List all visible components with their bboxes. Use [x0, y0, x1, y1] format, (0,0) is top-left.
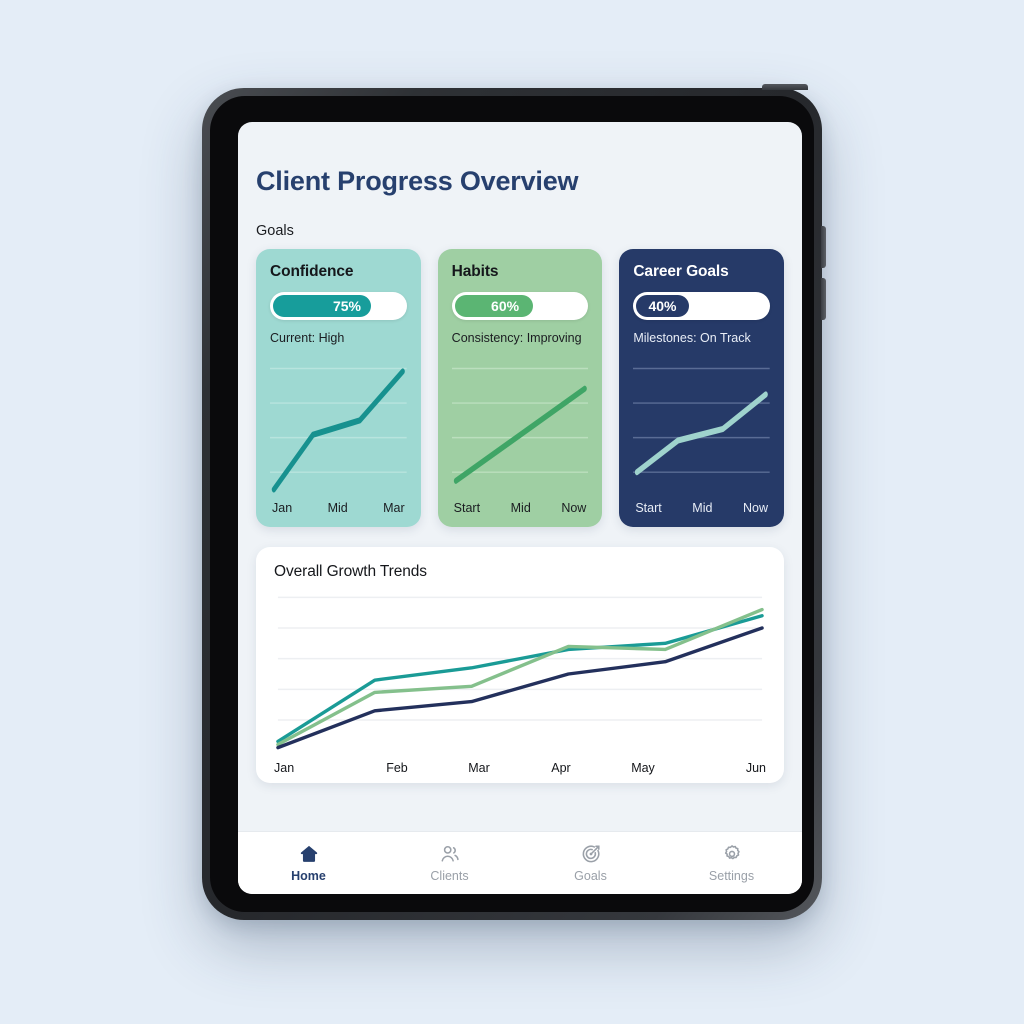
axis-tick: Apr — [520, 761, 602, 775]
goal-card-career[interactable]: Career Goals 40% Milestones: On Track — [619, 249, 784, 527]
growth-trends-chart — [274, 593, 766, 755]
goal-card-habits[interactable]: Habits 60% Consistency: Improving — [438, 249, 603, 527]
axis-tick: Mar — [383, 501, 405, 515]
progress-bar-habits: 60% — [452, 292, 589, 320]
tab-label: Goals — [574, 869, 607, 883]
goal-cards-row: Confidence 75% Current: High — [256, 249, 784, 527]
axis-tick: May — [602, 761, 684, 775]
tab-home[interactable]: Home — [238, 843, 379, 883]
device-bezel: Client Progress Overview Goals Confidenc… — [210, 96, 814, 912]
axis-tick: Jan — [274, 761, 356, 775]
tablet-device: Client Progress Overview Goals Confidenc… — [202, 88, 822, 920]
progress-bar-confidence: 75% — [270, 292, 407, 320]
tab-settings[interactable]: Settings — [661, 843, 802, 883]
goal-card-title: Confidence — [270, 263, 407, 281]
axis-tick: Now — [743, 501, 768, 515]
sparkline-axis-confidence: Jan Mid Mar — [270, 501, 407, 527]
axis-tick: Jun — [684, 761, 766, 775]
axis-tick: Mar — [438, 761, 520, 775]
goal-card-title: Career Goals — [633, 263, 770, 281]
goal-card-title: Habits — [452, 263, 589, 281]
axis-tick: Start — [635, 501, 661, 515]
tablet-screen: Client Progress Overview Goals Confidenc… — [238, 122, 802, 894]
growth-trends-card: Overall Growth Trends Jan Feb Mar Apr Ma… — [256, 547, 784, 783]
goal-card-subtitle: Current: High — [270, 331, 407, 345]
volume-down-button[interactable] — [821, 278, 826, 320]
goal-card-subtitle: Milestones: On Track — [633, 331, 770, 345]
sparkline-career — [633, 357, 770, 501]
target-icon — [580, 843, 602, 865]
axis-tick: Mid — [328, 501, 348, 515]
axis-tick: Start — [454, 501, 480, 515]
progress-value: 75% — [333, 298, 371, 314]
people-icon — [439, 843, 461, 865]
chart-canvas — [274, 593, 766, 755]
page-title: Client Progress Overview — [256, 166, 784, 197]
sparkline-habits — [452, 357, 589, 501]
power-button[interactable] — [762, 84, 808, 90]
chart-series-confidence — [278, 616, 762, 742]
app-content: Client Progress Overview Goals Confidenc… — [238, 122, 802, 831]
tab-clients[interactable]: Clients — [379, 843, 520, 883]
home-icon — [298, 843, 320, 865]
progress-value: 60% — [491, 298, 533, 314]
sparkline-axis-habits: Start Mid Now — [452, 501, 589, 527]
axis-tick: Feb — [356, 761, 438, 775]
goal-card-confidence[interactable]: Confidence 75% Current: High — [256, 249, 421, 527]
sparkline-confidence — [270, 357, 407, 501]
axis-tick: Jan — [272, 501, 292, 515]
chart-series-habits — [278, 610, 762, 745]
sparkline-axis-career: Start Mid Now — [633, 501, 770, 527]
chart-title: Overall Growth Trends — [274, 563, 766, 581]
gear-icon — [721, 843, 743, 865]
tab-goals[interactable]: Goals — [520, 843, 661, 883]
goals-section-label: Goals — [256, 223, 784, 239]
chart-series-career — [278, 628, 762, 748]
progress-value: 40% — [636, 298, 688, 314]
axis-tick: Mid — [692, 501, 712, 515]
chart-x-axis: Jan Feb Mar Apr May Jun — [274, 755, 766, 775]
bottom-navigation: Home Clients — [238, 831, 802, 894]
axis-tick: Now — [561, 501, 586, 515]
tab-label: Clients — [430, 869, 468, 883]
tab-label: Settings — [709, 869, 754, 883]
goal-card-subtitle: Consistency: Improving — [452, 331, 589, 345]
progress-bar-career: 40% — [633, 292, 770, 320]
axis-tick: Mid — [511, 501, 531, 515]
volume-up-button[interactable] — [821, 226, 826, 268]
tab-label: Home — [291, 869, 326, 883]
